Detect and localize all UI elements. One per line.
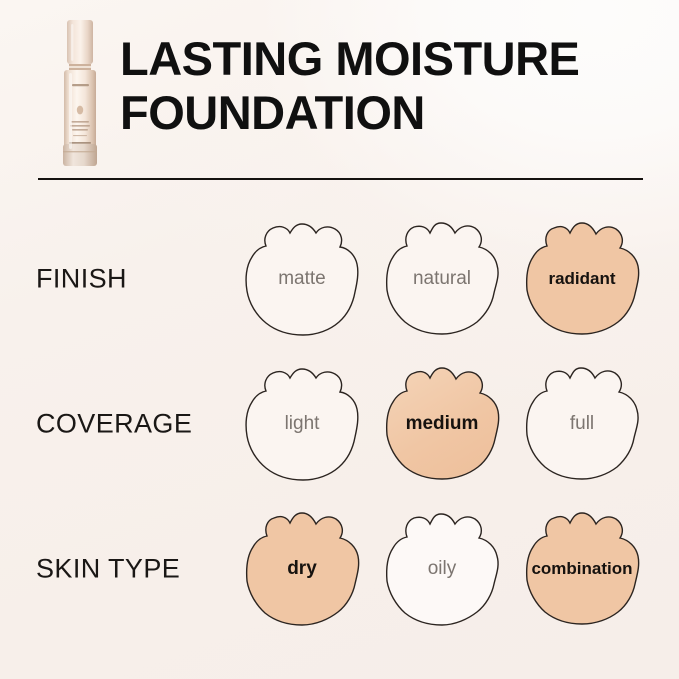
attribute-grid: FINISH matte natur [0,196,679,679]
blob-shape-icon [518,505,646,633]
blob-shape-icon [378,360,506,488]
blob-shape-icon [378,505,506,633]
option-full[interactable]: full [512,351,652,496]
row-options-coverage: light [232,351,652,496]
title-line-1: LASTING MOISTURE [120,32,660,86]
option-dry[interactable]: dry [232,496,372,641]
option-natural[interactable]: natural [372,206,512,351]
blob-shape-icon [518,360,646,488]
blob-shape-icon [238,505,366,633]
option-light[interactable]: light [232,351,372,496]
option-radidant[interactable]: radidant [512,206,652,351]
title-line-2: FOUNDATION [120,86,660,140]
header-divider [38,178,643,180]
attribute-row-finish: FINISH matte natur [0,206,679,351]
blob-shape-icon [238,215,366,343]
blob-shape-icon [238,360,366,488]
blob-shape-icon [518,215,646,343]
row-options-skin-type: dry oily combina [232,496,652,641]
header: LASTING MOISTURE FOUNDATION [0,0,679,200]
row-label-coverage: COVERAGE [36,408,192,439]
row-label-skin-type: SKIN TYPE [36,553,180,584]
option-matte[interactable]: matte [232,206,372,351]
product-attribute-poster: LASTING MOISTURE FOUNDATION FINISH matte [0,0,679,679]
row-options-finish: matte natural ra [232,206,652,351]
blob-shape-icon [378,215,506,343]
option-combination[interactable]: combination [512,496,652,641]
foundation-bottle-icon [58,18,102,170]
option-oily[interactable]: oily [372,496,512,641]
attribute-row-skin-type: SKIN TYPE dry oily [0,496,679,641]
row-label-finish: FINISH [36,263,127,294]
attribute-row-coverage: COVERAGE light [0,351,679,496]
option-medium[interactable]: medium [372,351,512,496]
page-title: LASTING MOISTURE FOUNDATION [120,32,660,140]
